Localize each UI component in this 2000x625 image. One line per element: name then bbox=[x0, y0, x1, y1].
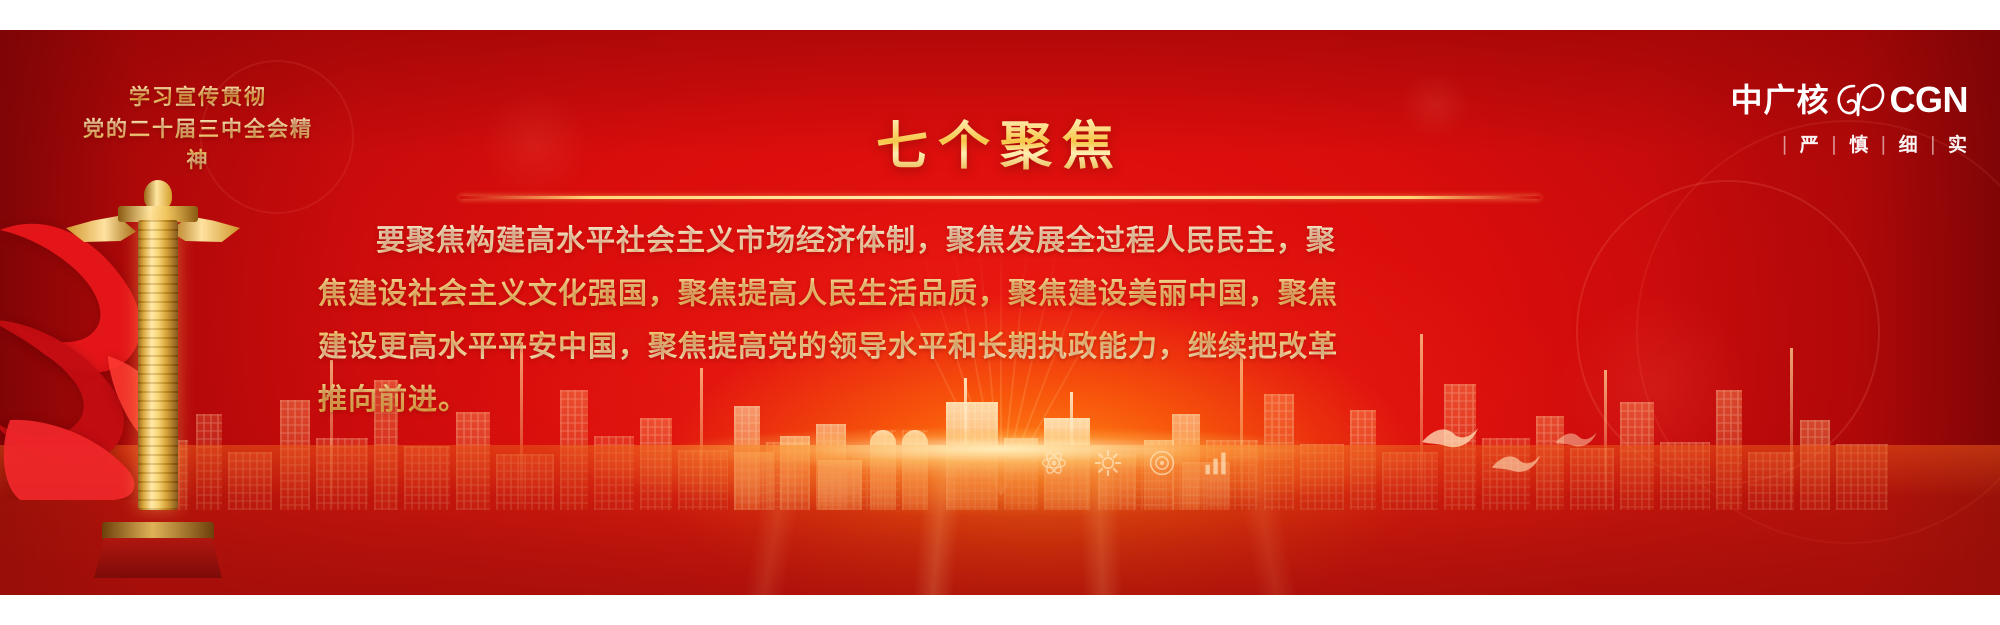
atom-icon bbox=[1040, 449, 1068, 477]
tagline-char-1: 严 bbox=[1799, 130, 1820, 157]
body-text-container: 要聚焦构建高水平社会主义市场经济体制，聚焦发展全过程人民民主，聚焦建设社会主义文… bbox=[318, 214, 1348, 426]
title-divider bbox=[460, 196, 1540, 199]
target-icon bbox=[1148, 449, 1176, 477]
dove-icon bbox=[1490, 448, 1542, 478]
tagline-char-4: 实 bbox=[1947, 130, 1968, 157]
logo-english-name: CGN bbox=[1890, 82, 1969, 118]
dove-icon bbox=[1420, 420, 1480, 454]
tagline-separator: | bbox=[1770, 133, 1798, 155]
cgn-swirl-icon bbox=[1834, 82, 1886, 118]
promotional-banner: 学习宣传贯彻 党的二十届三中全会精神 七个聚焦 要聚焦构建高水平社会主义市场经济… bbox=[0, 0, 2000, 625]
tagline-char-3: 细 bbox=[1898, 130, 1919, 157]
huabiao-base bbox=[116, 502, 200, 524]
top-white-strip bbox=[0, 0, 2000, 30]
bar-chart-icon bbox=[1202, 449, 1230, 477]
tagline-char-2: 慎 bbox=[1848, 130, 1869, 157]
logo-chinese-name: 中广核 bbox=[1730, 84, 1829, 116]
tagline-separator: | bbox=[1820, 133, 1848, 155]
tagline-separator: | bbox=[1919, 133, 1947, 155]
body-paragraph: 要聚焦构建高水平社会主义市场经济体制，聚焦发展全过程人民民主，聚焦建设社会主义文… bbox=[318, 214, 1348, 426]
cgn-logo: 中广核 CGN | 严 | 慎 | 细 | 实 bbox=[1668, 82, 1968, 157]
huabiao-column-icon bbox=[40, 150, 300, 570]
huabiao-pedestal bbox=[94, 538, 222, 578]
technology-icon-row bbox=[1040, 449, 1230, 477]
bottom-white-strip bbox=[0, 595, 2000, 625]
tagline-separator: | bbox=[1869, 133, 1897, 155]
dove-icon bbox=[1554, 426, 1598, 452]
logo-tagline: | 严 | 慎 | 细 | 实 bbox=[1668, 130, 1968, 157]
huabiao-shaft bbox=[138, 220, 178, 510]
huabiao-plinth bbox=[102, 522, 214, 540]
gear-icon bbox=[1094, 449, 1122, 477]
